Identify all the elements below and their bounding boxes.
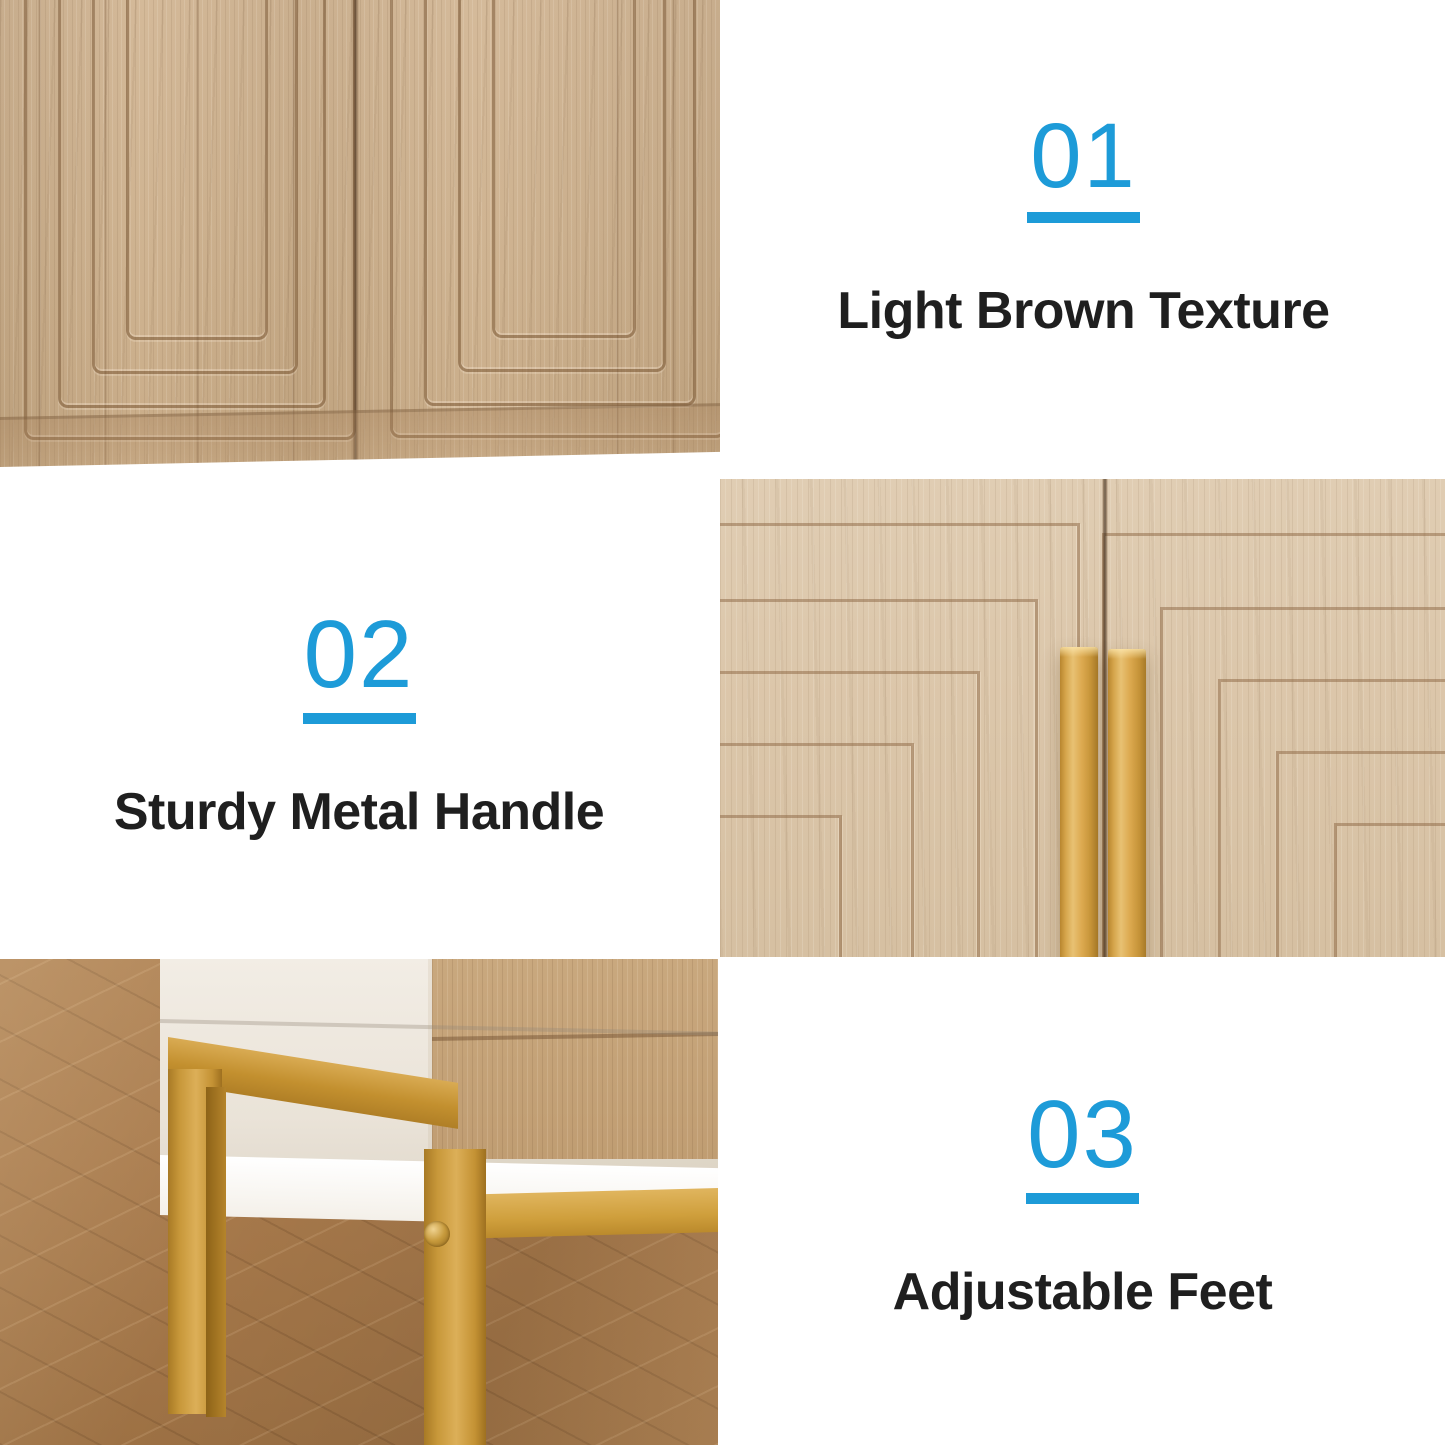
gold-handle-right[interactable] — [1108, 649, 1146, 957]
feature-1-caption: Light Brown Texture — [837, 281, 1329, 341]
handle-groove-step — [720, 815, 842, 957]
feature-1-number: 01 — [1030, 110, 1136, 202]
wood-texture-photo — [0, 0, 720, 477]
infographic-board: 01 Light Brown Texture 02 Sturdy Metal H… — [0, 0, 1445, 1445]
feature-1-number-group: 01 — [1027, 110, 1140, 223]
feature-3-text-panel: 03 Adjustable Feet — [720, 959, 1445, 1445]
adjustable-feet-photo — [0, 959, 718, 1445]
feature-3-underline — [1026, 1193, 1139, 1204]
feature-3-number: 03 — [1027, 1087, 1138, 1183]
feature-2-text-panel: 02 Sturdy Metal Handle — [0, 479, 718, 957]
gold-handle-left[interactable] — [1060, 647, 1098, 957]
handle-groove-step — [1334, 823, 1445, 957]
door-center-seam — [352, 0, 359, 477]
feature-2-number-group: 02 — [303, 607, 416, 724]
leg-screw — [424, 1221, 450, 1247]
feature-1-underline — [1027, 212, 1140, 223]
feature-3-number-group: 03 — [1026, 1087, 1139, 1204]
gold-handle-photo — [720, 479, 1445, 957]
feature-2-underline — [303, 713, 416, 724]
door-groove-ring — [126, 0, 268, 340]
gold-leg-left-inner-face — [206, 1087, 226, 1417]
feature-1-text-panel: 01 Light Brown Texture — [722, 0, 1445, 477]
cabinet-wood-door — [432, 959, 718, 1159]
door-groove-ring — [492, 0, 636, 338]
gold-leg-right — [424, 1149, 486, 1445]
gold-rail-right — [452, 1188, 718, 1239]
feature-2-caption: Sturdy Metal Handle — [114, 782, 604, 842]
feature-3-caption: Adjustable Feet — [893, 1262, 1273, 1322]
feature-2-number: 02 — [304, 607, 415, 703]
